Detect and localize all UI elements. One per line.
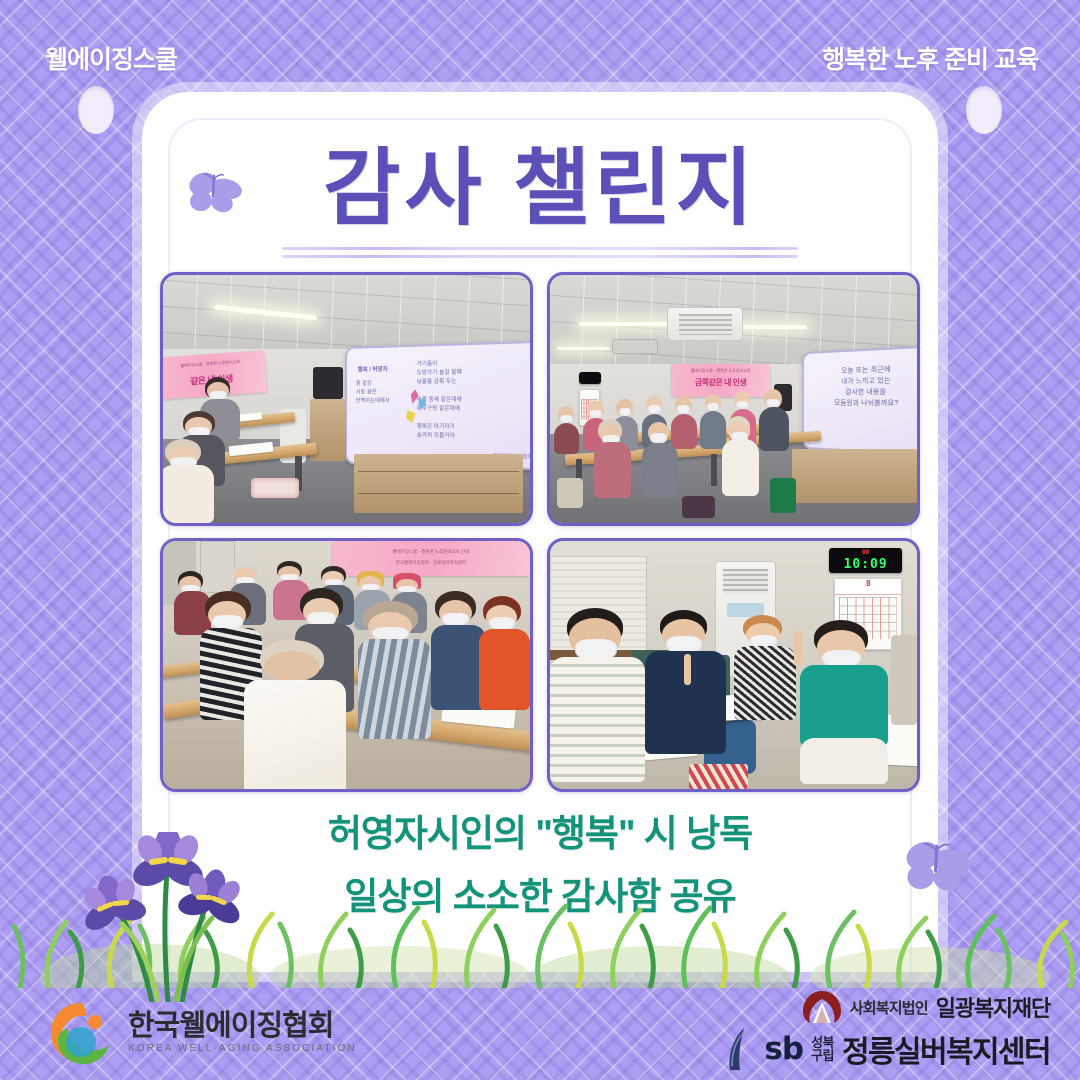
- poster-root: 웰에이징스쿨 행복한 노후 준비 교육 감사 챌린지: [0, 0, 1080, 1080]
- kwa-logo-icon: [48, 1000, 114, 1066]
- iris-flower-icon: [72, 832, 262, 1002]
- title-divider: [282, 247, 798, 259]
- sb-mark: sb: [764, 1031, 803, 1067]
- calendar-month: 8: [835, 579, 901, 595]
- kwa-name-korean: 한국웰에이징협회: [128, 1010, 357, 1042]
- punch-hole-right: [966, 86, 1002, 134]
- logo-ilgwang-foundation: 사회복지법인 일광복지재단: [802, 990, 1050, 1024]
- photo2-screen-text: 오늘 또는 최근에 내가 느끼고 있는 감사한 내용을 모둠원과 나눠볼까요?: [813, 363, 917, 410]
- clock-date: 08: [829, 549, 902, 556]
- kwa-name-english: KOREA WELL-AGING ASSOCIATION: [128, 1042, 357, 1056]
- sb-sub-bottom: 구립: [811, 1049, 834, 1062]
- clock-time: 10:09: [829, 557, 902, 572]
- seongbuk-bird-icon: [726, 1026, 756, 1072]
- photo-peace-sign: 08 10:09 8: [547, 538, 920, 792]
- photo-grid: 같은 내 인생 웰에이징스쿨 · 행복한 노후준비교육 행복 / 허영자 꽃 같…: [142, 272, 938, 792]
- header-right-label: 행복한 노후 준비 교육: [822, 40, 1038, 76]
- photo-participants-tables: 웰에이징스쿨 · 행복한 노후준비교육 안내 한국웰에이징협회 · 정릉실버복지…: [160, 538, 533, 792]
- header-left-label: 웰에이징스쿨: [45, 40, 177, 76]
- footer: 한국웰에이징협회 KOREA WELL-AGING ASSOCIATION 사회…: [0, 980, 1080, 1080]
- ilgwang-name: 일광복지재단: [936, 991, 1050, 1023]
- logo-korea-well-aging-association: 한국웰에이징협회 KOREA WELL-AGING ASSOCIATION: [48, 1000, 357, 1066]
- title-row: 감사 챌린지: [142, 136, 938, 246]
- ilgwang-prefix: 사회복지법인: [850, 997, 928, 1018]
- punch-hole-left: [78, 86, 114, 134]
- photo-classroom-wide: 금쪽같은 내 인생 웰에이징스쿨 · 행복한 노후준비교육 오늘 또는 최근에 …: [547, 272, 920, 526]
- page-title: 감사 챌린지: [142, 136, 938, 240]
- digital-clock: 08 10:09: [829, 548, 902, 573]
- logo-partners: 사회복지법인 일광복지재단 sb 성북 구립 정릉실버복지센터: [726, 990, 1050, 1072]
- jeongneung-center-name: 정릉실버복지센터: [842, 1027, 1050, 1071]
- photo-classroom-screen: 같은 내 인생 웰에이징스쿨 · 행복한 노후준비교육 행복 / 허영자 꽃 같…: [160, 272, 533, 526]
- butterfly-icon: [900, 838, 976, 896]
- ilgwang-mark-icon: [802, 990, 842, 1024]
- photo2-banner-text: 금쪽같은 내 인생: [671, 377, 770, 388]
- logo-jeongneung-silver-center: sb 성북 구립 정릉실버복지센터: [726, 1026, 1050, 1072]
